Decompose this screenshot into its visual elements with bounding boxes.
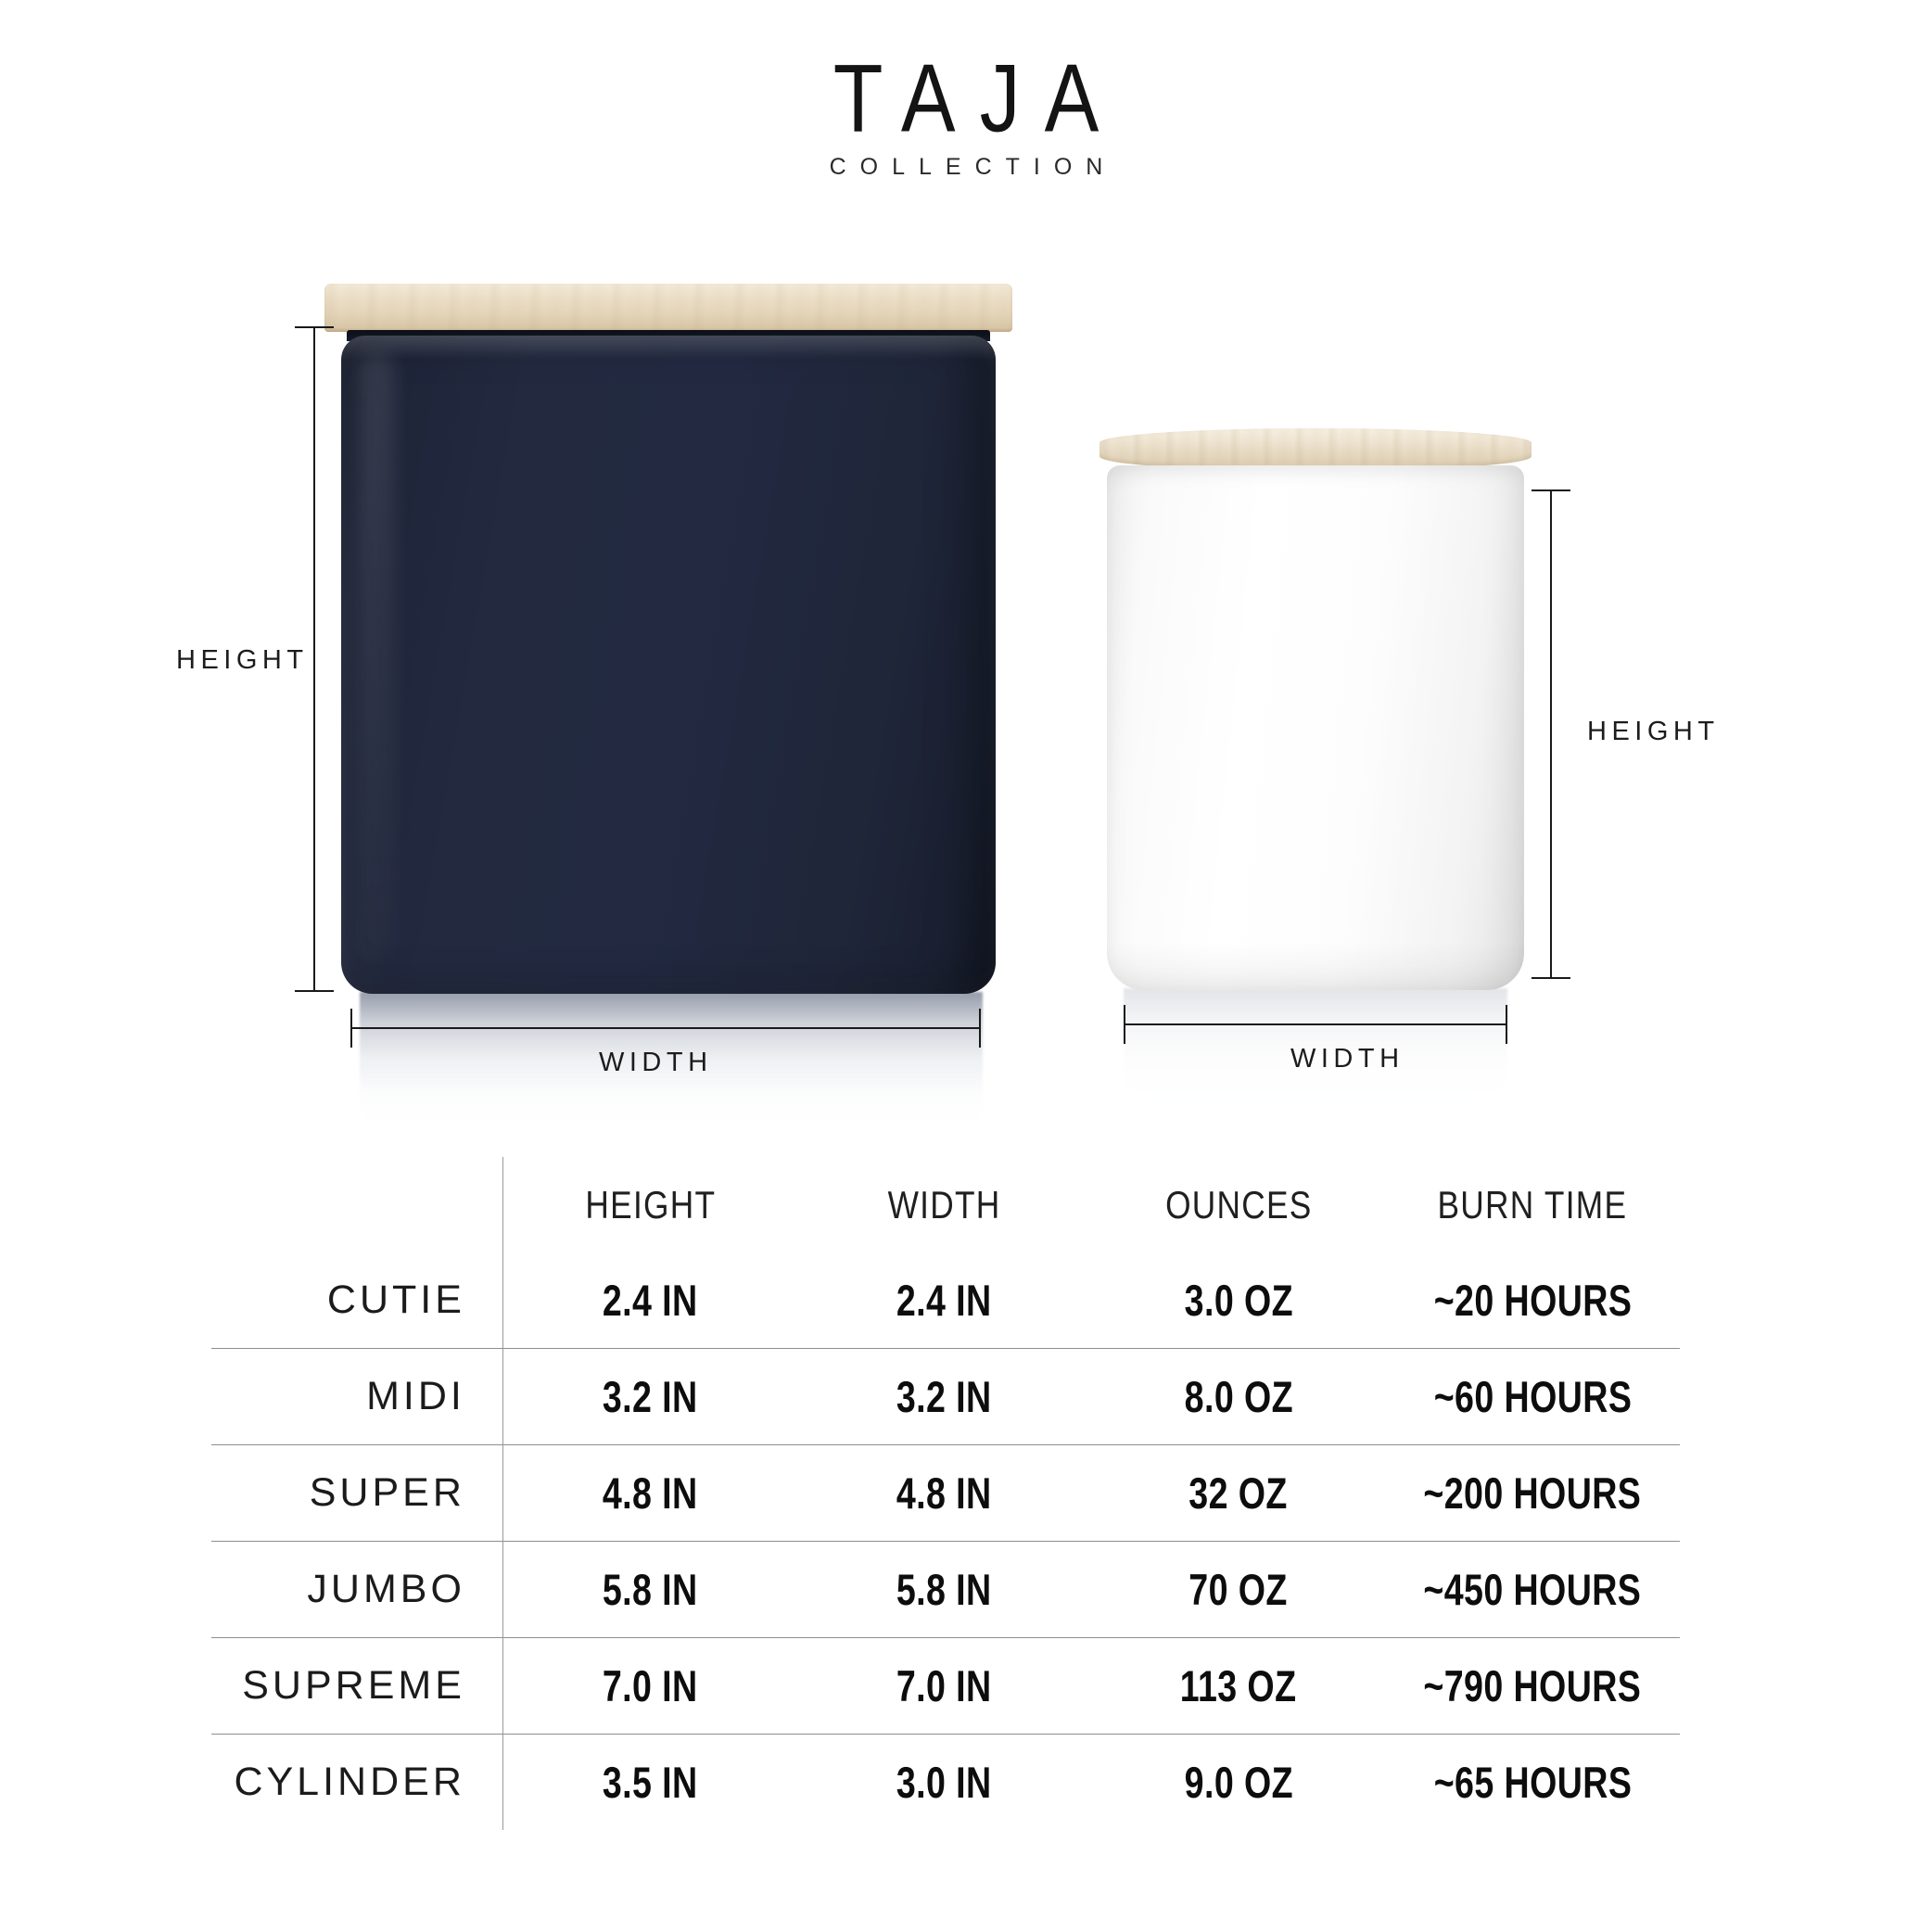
navy-jar-body xyxy=(341,336,996,994)
table-header-row: HEIGHT WIDTH OUNCES BURN TIME xyxy=(211,1157,1680,1252)
white-width-label: WIDTH xyxy=(1290,1044,1405,1074)
table-row: SUPER4.8 IN4.8 IN32 OZ~200 HOURS xyxy=(211,1445,1680,1542)
table-cell-height: 2.4 IN xyxy=(502,1252,796,1349)
table-cell-burn-time: ~65 HOURS xyxy=(1386,1735,1680,1831)
table-cell-height: 4.8 IN xyxy=(502,1445,796,1542)
white-jar-body xyxy=(1107,465,1524,990)
table-header-blank xyxy=(211,1157,502,1252)
table-row-name: CUTIE xyxy=(211,1252,502,1349)
table-cell-ounces: 113 OZ xyxy=(1091,1638,1385,1735)
size-specification-table: HEIGHT WIDTH OUNCES BURN TIME CUTIE2.4 I… xyxy=(211,1157,1680,1830)
table-cell-burn-time: ~790 HOURS xyxy=(1386,1638,1680,1735)
table-row: MIDI3.2 IN3.2 IN8.0 OZ~60 HOURS xyxy=(211,1349,1680,1445)
table-row-name: CYLINDER xyxy=(211,1735,502,1831)
table-cell-height: 7.0 IN xyxy=(502,1638,796,1735)
navy-height-label: HEIGHT xyxy=(176,645,309,676)
table-header-width: WIDTH xyxy=(797,1157,1091,1252)
table-row-name: SUPER xyxy=(211,1445,502,1542)
table-header-burn-time: BURN TIME xyxy=(1386,1157,1680,1252)
table-cell-ounces: 9.0 OZ xyxy=(1091,1735,1385,1831)
table-cell-burn-time: ~20 HOURS xyxy=(1386,1252,1680,1349)
navy-height-dimension-line xyxy=(313,326,315,992)
table-cell-burn-time: ~450 HOURS xyxy=(1386,1542,1680,1638)
table-cell-height: 3.2 IN xyxy=(502,1349,796,1445)
product-photo-area: HEIGHT WIDTH HEIGHT WIDTH xyxy=(0,0,1932,1131)
table-row: CUTIE2.4 IN2.4 IN3.0 OZ~20 HOURS xyxy=(211,1252,1680,1349)
table-row-name: JUMBO xyxy=(211,1542,502,1638)
table-cell-ounces: 70 OZ xyxy=(1091,1542,1385,1638)
table-cell-burn-time: ~60 HOURS xyxy=(1386,1349,1680,1445)
navy-jar-wooden-lid xyxy=(324,284,1012,332)
table-cell-width: 7.0 IN xyxy=(797,1638,1091,1735)
table-cell-burn-time: ~200 HOURS xyxy=(1386,1445,1680,1542)
table-cell-ounces: 3.0 OZ xyxy=(1091,1252,1385,1349)
table-row-name: MIDI xyxy=(211,1349,502,1445)
white-height-dimension-line xyxy=(1550,489,1552,979)
table-row: CYLINDER3.5 IN3.0 IN9.0 OZ~65 HOURS xyxy=(211,1735,1680,1831)
table-cell-height: 3.5 IN xyxy=(502,1735,796,1831)
table-cell-ounces: 8.0 OZ xyxy=(1091,1349,1385,1445)
table-cell-width: 4.8 IN xyxy=(797,1445,1091,1542)
white-width-dimension-line xyxy=(1124,1023,1507,1025)
navy-width-label: WIDTH xyxy=(599,1048,713,1078)
table-row: SUPREME7.0 IN7.0 IN113 OZ~790 HOURS xyxy=(211,1638,1680,1735)
table-cell-ounces: 32 OZ xyxy=(1091,1445,1385,1542)
table-cell-width: 3.2 IN xyxy=(797,1349,1091,1445)
white-height-label: HEIGHT xyxy=(1587,717,1720,747)
table-header-height: HEIGHT xyxy=(502,1157,796,1252)
navy-square-jar-image xyxy=(341,284,996,994)
table-cell-height: 5.8 IN xyxy=(502,1542,796,1638)
table-header-ounces: OUNCES xyxy=(1091,1157,1385,1252)
table-cell-width: 5.8 IN xyxy=(797,1542,1091,1638)
table-row: JUMBO5.8 IN5.8 IN70 OZ~450 HOURS xyxy=(211,1542,1680,1638)
navy-width-dimension-line xyxy=(350,1027,981,1029)
table-cell-width: 2.4 IN xyxy=(797,1252,1091,1349)
table-row-name: SUPREME xyxy=(211,1638,502,1735)
white-cylinder-jar-image xyxy=(1107,428,1524,990)
table-cell-width: 3.0 IN xyxy=(797,1735,1091,1831)
